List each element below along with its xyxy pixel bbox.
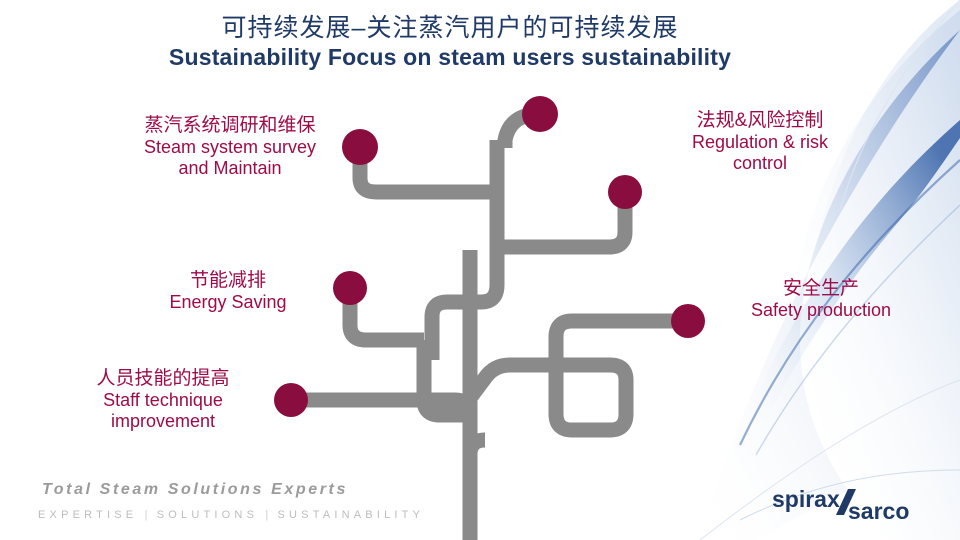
- node-label-survey-english-line1: Steam system survey: [118, 137, 342, 158]
- spirax-sarco-logo: spirax sarco: [770, 485, 950, 531]
- node-label-staff-technique-chinese: 人员技能的提高: [68, 368, 258, 390]
- footer-pillar-separator-2: |: [265, 509, 270, 521]
- footer-pillars: EXPERTISE | SOLUTIONS | SUSTAINABILITY: [38, 509, 424, 521]
- node-dot-survey[interactable]: [342, 129, 378, 165]
- node-label-safety-production-english: Safety production: [736, 300, 906, 321]
- logo-word-sarco: sarco: [848, 498, 909, 524]
- node-label-energy-saving-chinese: 节能减排: [140, 270, 316, 292]
- node-label-safety-production: 安全生产 Safety production: [736, 278, 906, 321]
- node-label-regulation-english-line2: control: [672, 153, 848, 174]
- footer-pillar-sustainability: SUSTAINABILITY: [278, 509, 425, 521]
- node-dot-energy-saving[interactable]: [333, 271, 367, 305]
- footer-pillar-expertise: EXPERTISE: [38, 509, 137, 521]
- branch-regulation: [497, 196, 625, 247]
- node-label-energy-saving-english: Energy Saving: [140, 292, 316, 313]
- node-dot-regulation[interactable]: [608, 175, 642, 209]
- node-label-staff-technique-english-line1: Staff technique: [68, 390, 258, 411]
- node-label-staff-technique-english-line2: improvement: [68, 411, 258, 432]
- node-label-regulation: 法规&风险控制 Regulation & risk control: [672, 110, 848, 174]
- slide-canvas: 可持续发展–关注蒸汽用户的可持续发展 Sustainability Focus …: [0, 0, 960, 540]
- node-label-survey: 蒸汽系统调研和维保 Steam system survey and Mainta…: [118, 115, 342, 179]
- node-dot-top[interactable]: [522, 96, 558, 132]
- node-label-regulation-english-line1: Regulation & risk: [672, 132, 848, 153]
- node-label-safety-production-chinese: 安全生产: [736, 278, 906, 300]
- node-label-survey-english-line2: and Maintain: [118, 158, 342, 179]
- footer-pillar-separator-1: |: [145, 509, 150, 521]
- node-label-staff-technique: 人员技能的提高 Staff technique improvement: [68, 368, 258, 432]
- logo-word-spirax: spirax: [772, 486, 840, 512]
- node-label-energy-saving: 节能减排 Energy Saving: [140, 270, 316, 313]
- node-dot-staff-technique[interactable]: [274, 383, 308, 417]
- branch-survey: [360, 150, 497, 192]
- node-label-survey-chinese: 蒸汽系统调研和维保: [118, 115, 342, 137]
- footer-tagline: Total Steam Solutions Experts: [42, 481, 348, 499]
- footer-pillar-solutions: SOLUTIONS: [157, 509, 258, 521]
- node-label-regulation-chinese: 法规&风险控制: [672, 110, 848, 132]
- branch-safety-to-trunk: [470, 365, 545, 398]
- node-dot-safety-production[interactable]: [671, 304, 705, 338]
